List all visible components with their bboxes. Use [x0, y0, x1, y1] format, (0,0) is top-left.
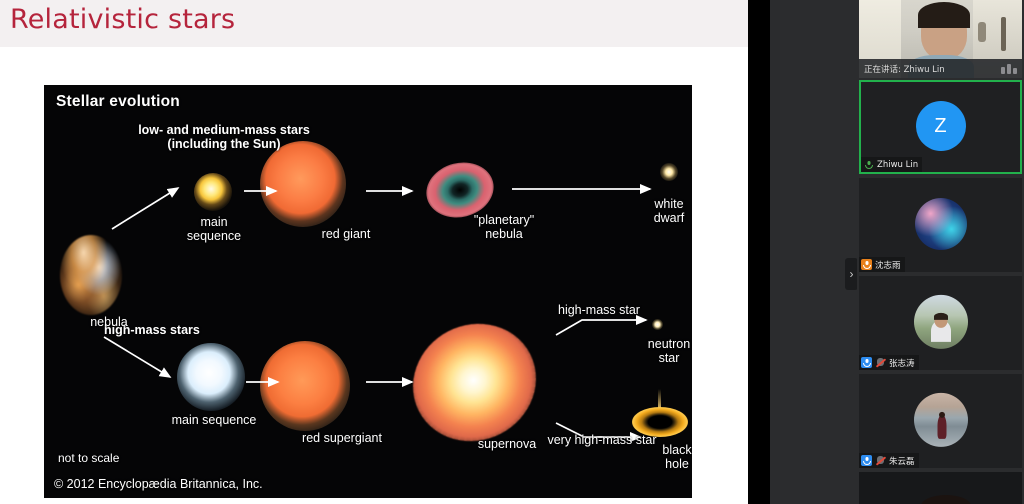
participant-name: Zhiwu Lin [877, 160, 918, 170]
tile-name-bar: 沈志雨 [859, 257, 905, 272]
lowmass-group-heading: low- and medium-mass stars (including th… [84, 123, 364, 152]
not-to-scale-note: not to scale [58, 452, 119, 466]
shared-screen-slide: Relativistic stars [0, 0, 748, 504]
label-nebula: nebula [54, 315, 164, 329]
label-neutron-star: neutron star [614, 337, 692, 366]
label-main-sequence-highmass: main sequence [114, 413, 314, 427]
label-red-giant: red giant [266, 227, 426, 241]
screen-share-gutter [748, 0, 770, 504]
video-tile-zhu-yunlei[interactable]: 朱云磊 [859, 374, 1022, 468]
avatar [914, 393, 968, 447]
microphone-muted-icon [875, 455, 886, 466]
avatar [914, 295, 968, 349]
avatar: Z [916, 101, 966, 151]
page-title: Relativistic stars [10, 4, 235, 35]
microphone-icon [863, 159, 874, 170]
video-tile-zhiwu-lin[interactable]: Z Zhiwu Lin [859, 80, 1022, 174]
label-planetary-nebula: "planetary" nebula [414, 213, 594, 242]
webcam-video-feed [859, 472, 1022, 504]
participant-name: 沈志雨 [875, 259, 901, 271]
participant-name: 朱云磊 [889, 455, 915, 467]
microphone-icon [861, 357, 872, 368]
tile-name-bar: 朱云磊 [859, 453, 919, 468]
copyright-note: © 2012 Encyclopædia Britannica, Inc. [54, 477, 263, 491]
microphone-muted-icon [875, 357, 886, 368]
speaking-indicator-banner: 正在讲话: Zhiwu Lin [859, 59, 1022, 78]
microphone-icon [861, 259, 872, 270]
diagram-heading: Stellar evolution [56, 93, 180, 111]
label-high-mass-star: high-mass star [514, 303, 684, 317]
video-tile-shen-zhiyu[interactable]: 沈志雨 [859, 178, 1022, 272]
label-white-dwarf: white dwarf [614, 197, 692, 226]
stellar-evolution-diagram: Stellar evolution low- and medium-mass s… [44, 85, 692, 498]
participant-name: 张志涛 [889, 357, 915, 369]
zoom-meeting-panel: › 正在讲话: Zhiwu Lin [770, 0, 1024, 504]
screen-root: Relativistic stars [0, 0, 1024, 504]
participant-filmstrip[interactable]: 正在讲话: Zhiwu Lin Z Zhiwu Lin 沈志雨 [857, 0, 1024, 504]
speaking-label: 正在讲话: Zhiwu Lin [864, 63, 945, 75]
label-red-supergiant: red supergiant [252, 431, 432, 445]
microphone-icon [861, 455, 872, 466]
video-tile-partial[interactable] [859, 472, 1022, 504]
label-black-hole: black hole [622, 443, 692, 472]
tile-name-bar: Zhiwu Lin [861, 157, 922, 172]
video-tile-speaker[interactable]: 正在讲话: Zhiwu Lin [859, 0, 1022, 78]
avatar [915, 198, 967, 250]
video-tile-zhang-zhitao[interactable]: 张志涛 [859, 276, 1022, 370]
tile-name-bar: 张志涛 [859, 355, 919, 370]
audio-level-icon [1001, 63, 1017, 74]
